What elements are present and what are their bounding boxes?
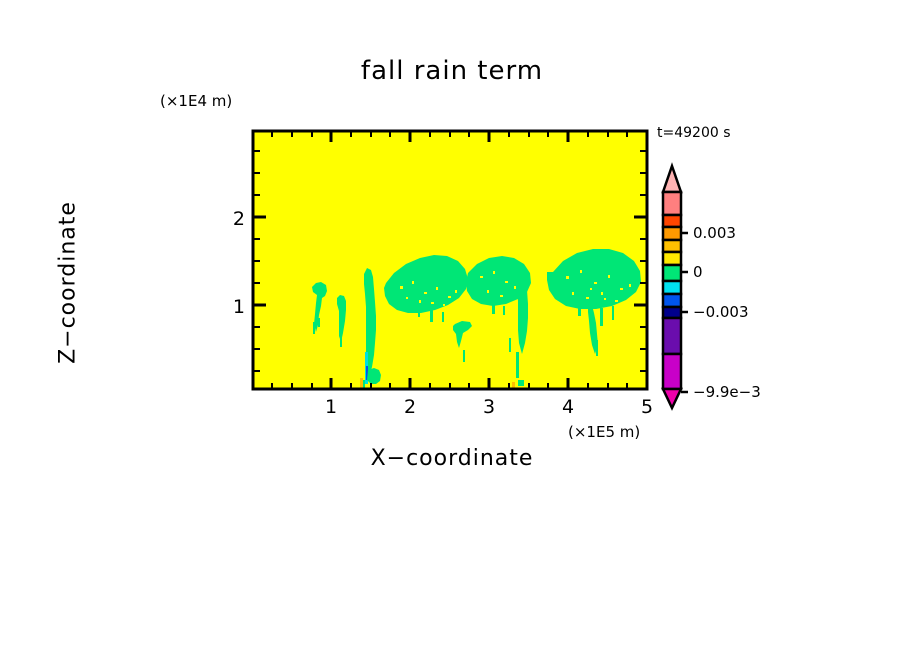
y-tick-label: 1 [233, 296, 245, 318]
plot-svg: 1 2 3 4 5 2 1 [0, 0, 904, 654]
colorbar[interactable] [663, 166, 688, 408]
colorbar-band [663, 252, 681, 265]
colorbar-band [663, 281, 681, 294]
colorbar-band [663, 227, 681, 240]
colorbar-band [663, 354, 681, 389]
y-tick-label: 2 [233, 208, 245, 230]
colorbar-band [663, 307, 681, 318]
x-tick-label: 5 [641, 396, 653, 418]
colorbar-top-arrow [663, 166, 681, 192]
colorbar-label-min: −9.9e−3 [693, 383, 761, 401]
x-tick-label: 3 [483, 396, 495, 418]
figure-canvas: fall rain term (×1E4 m) (×1E5 m) t=49200… [0, 0, 904, 654]
colorbar-band [663, 318, 681, 354]
y-tick-labels: 2 1 [233, 208, 245, 318]
colorbar-band [663, 215, 681, 227]
colorbar-band [663, 192, 681, 215]
colorbar-band [663, 240, 681, 252]
x-tick-labels: 1 2 3 4 5 [325, 396, 653, 418]
colorbar-bottom-arrow [663, 389, 681, 408]
x-tick-label: 2 [404, 396, 416, 418]
colorbar-label-positive: 0.003 [693, 224, 736, 242]
colorbar-label-zero: 0 [693, 263, 703, 281]
colorbar-label-negative: −0.003 [693, 303, 749, 321]
x-tick-label: 1 [325, 396, 337, 418]
colorbar-band [663, 294, 681, 307]
colorbar-band [663, 265, 681, 281]
x-tick-label: 4 [562, 396, 574, 418]
